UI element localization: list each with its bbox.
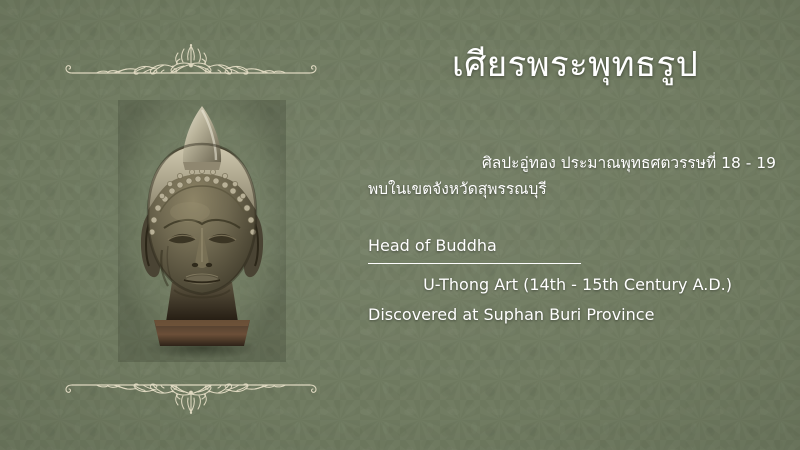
english-subtitle: U-Thong Art (14th - 15th Century A.D.) bbox=[368, 271, 780, 299]
english-heading: Head of Buddha bbox=[368, 232, 581, 264]
buddha-head-sculpture-icon bbox=[118, 100, 286, 362]
thai-caption-line2: พบในเขตจังหวัดสุพรรณบุรี bbox=[368, 176, 780, 202]
english-discovery: Discovered at Suphan Buri Province bbox=[368, 301, 780, 329]
page-title: เศียรพระพุทธรูป bbox=[370, 42, 780, 88]
english-heading-row: Head of Buddha bbox=[368, 232, 780, 264]
english-caption-group: Head of Buddha U-Thong Art (14th - 15th … bbox=[368, 232, 780, 329]
buddha-head-image bbox=[118, 100, 286, 362]
caption-block: ศิลปะอู่ทอง ประมาณพุทธศตวรรษที่ 18 - 19 … bbox=[368, 150, 780, 329]
exhibit-slide: เศียรพระพุทธรูป ศิลปะอู่ทอง ประมาณพุทธศต… bbox=[0, 0, 800, 450]
thai-caption-line1: ศิลปะอู่ทอง ประมาณพุทธศตวรรษที่ 18 - 19 bbox=[368, 150, 780, 176]
